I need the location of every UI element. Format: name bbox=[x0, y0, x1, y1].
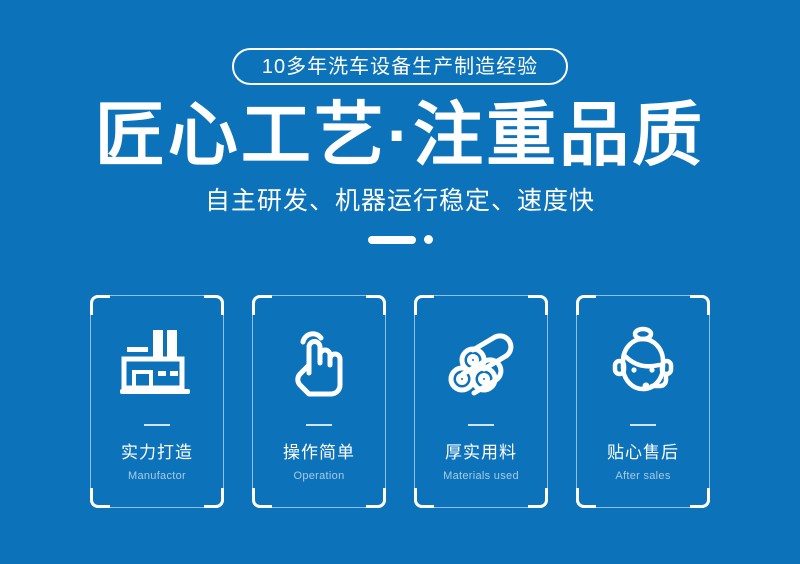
factory-icon bbox=[120, 324, 194, 398]
feature-card-title: 贴心售后 bbox=[607, 444, 679, 463]
feature-card-operation[interactable]: 操作简单 Operation bbox=[252, 295, 386, 508]
corner-bracket-bottom-left bbox=[576, 488, 596, 508]
feature-card-title: 操作简单 bbox=[283, 444, 355, 463]
headset-support-icon bbox=[606, 324, 680, 398]
corner-bracket-bottom-left bbox=[252, 488, 272, 508]
feature-card-materials[interactable]: 厚实用料 Materials used bbox=[414, 295, 548, 508]
feature-card-list: 实力打造 Manufactor bbox=[0, 295, 800, 508]
card-rule bbox=[630, 424, 656, 426]
corner-bracket-top-left bbox=[576, 295, 596, 315]
corner-bracket-top-left bbox=[414, 295, 434, 315]
promo-banner-page: 10多年洗车设备生产制造经验 匠心工艺·注重品质 自主研发、机器运行稳定、速度快 bbox=[0, 0, 800, 564]
stacked-pipes-icon bbox=[443, 324, 519, 398]
corner-bracket-top-left bbox=[90, 295, 110, 315]
page-title: 匠心工艺·注重品质 bbox=[0, 96, 800, 174]
corner-bracket-top-right bbox=[528, 295, 548, 315]
divider bbox=[0, 235, 800, 244]
card-rule bbox=[144, 424, 170, 426]
corner-bracket-bottom-right bbox=[366, 488, 386, 508]
feature-card-subtitle: Operation bbox=[293, 470, 344, 482]
card-rule bbox=[306, 424, 332, 426]
experience-badge: 10多年洗车设备生产制造经验 bbox=[232, 48, 568, 85]
corner-bracket-bottom-left bbox=[90, 488, 110, 508]
experience-badge-label: 10多年洗车设备生产制造经验 bbox=[262, 57, 538, 77]
corner-bracket-bottom-right bbox=[690, 488, 710, 508]
corner-bracket-bottom-right bbox=[204, 488, 224, 508]
feature-card-title: 厚实用料 bbox=[445, 444, 517, 463]
corner-bracket-top-left bbox=[252, 295, 272, 315]
banner-row: 10多年洗车设备生产制造经验 bbox=[0, 48, 800, 85]
page-subtitle: 自主研发、机器运行稳定、速度快 bbox=[0, 186, 800, 216]
corner-bracket-top-right bbox=[204, 295, 224, 315]
divider-dash-icon bbox=[368, 236, 416, 244]
pointing-hand-icon bbox=[285, 324, 353, 398]
corner-bracket-top-right bbox=[690, 295, 710, 315]
feature-card-subtitle: After sales bbox=[615, 470, 670, 482]
feature-card-manufactor[interactable]: 实力打造 Manufactor bbox=[90, 295, 224, 508]
corner-bracket-bottom-right bbox=[528, 488, 548, 508]
divider-dot-icon bbox=[424, 235, 433, 244]
corner-bracket-top-right bbox=[366, 295, 386, 315]
feature-card-after-sales[interactable]: 贴心售后 After sales bbox=[576, 295, 710, 508]
feature-card-subtitle: Materials used bbox=[443, 470, 519, 482]
card-rule bbox=[468, 424, 494, 426]
feature-card-title: 实力打造 bbox=[121, 444, 193, 463]
corner-bracket-bottom-left bbox=[414, 488, 434, 508]
feature-card-subtitle: Manufactor bbox=[128, 470, 186, 482]
